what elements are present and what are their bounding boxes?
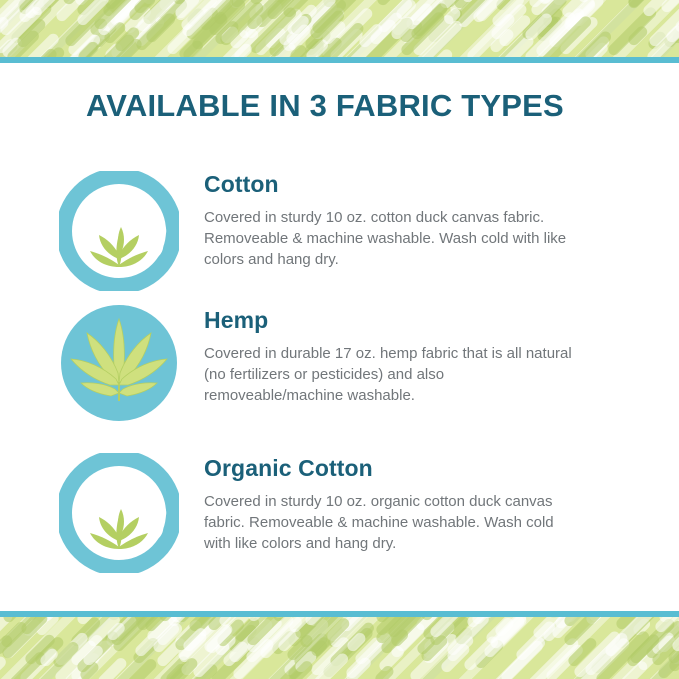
- top-band-rule: [0, 57, 679, 63]
- cotton-boll-icon: [59, 453, 179, 573]
- pill-dash: [373, 664, 396, 679]
- fabric-description-cotton: Covered in sturdy 10 oz. cotton duck can…: [204, 207, 572, 270]
- hemp-leaf-icon: [59, 303, 179, 423]
- fabric-item-cotton: Cotton Covered in sturdy 10 oz. cotton d…: [0, 159, 679, 297]
- fabric-description-organic-cotton: Covered in sturdy 10 oz. organic cotton …: [204, 491, 554, 554]
- fabric-text-hemp: Hemp Covered in durable 17 oz. hemp fabr…: [179, 297, 572, 406]
- fabric-text-organic-cotton: Organic Cotton Covered in sturdy 10 oz. …: [179, 445, 554, 554]
- pill-dash-row-bottom: [0, 617, 679, 679]
- fabric-text-cotton: Cotton Covered in sturdy 10 oz. cotton d…: [179, 159, 572, 270]
- page-title: AVAILABLE IN 3 FABRIC TYPES: [86, 88, 564, 124]
- top-decorative-band: [0, 0, 679, 64]
- pill-dash-row-top: [0, 0, 679, 58]
- fabric-item-organic-cotton: Organic Cotton Covered in sturdy 10 oz. …: [0, 445, 679, 595]
- cotton-boll-icon: [59, 171, 179, 291]
- top-band-pattern: [0, 0, 679, 58]
- pill-dash: [96, 656, 129, 679]
- fabric-name-cotton: Cotton: [204, 171, 572, 198]
- fabric-item-hemp: Hemp Covered in durable 17 oz. hemp fabr…: [0, 297, 679, 445]
- bottom-band-pattern: [0, 617, 679, 679]
- fabric-description-hemp: Covered in durable 17 oz. hemp fabric th…: [204, 343, 572, 406]
- fabric-name-organic-cotton: Organic Cotton: [204, 455, 554, 482]
- fabric-name-hemp: Hemp: [204, 307, 572, 334]
- main-content: AVAILABLE IN 3 FABRIC TYPES Cotton Cover…: [0, 64, 679, 611]
- fabric-type-list: Cotton Covered in sturdy 10 oz. cotton d…: [0, 159, 679, 595]
- bottom-decorative-band: [0, 611, 679, 679]
